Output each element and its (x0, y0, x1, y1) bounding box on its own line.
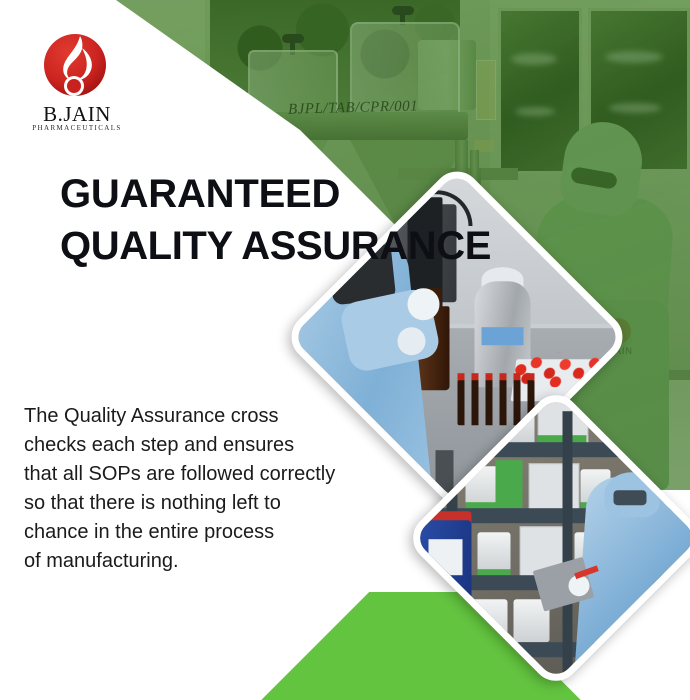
warehouse-container (465, 465, 498, 507)
bjain-flame-circle-icon (36, 32, 114, 104)
poster-canvas: BJPL/TAB/CPR/001 B.JAIN (0, 0, 690, 700)
warehouse-technician-visor-icon (614, 490, 647, 505)
warehouse-rack-upright (562, 411, 573, 678)
warehouse-container (477, 532, 510, 571)
lab-technician-glove (397, 326, 425, 354)
body-line-4: so that there is nothing left to (24, 489, 384, 518)
body-line-3: that all SOPs are followed correctly (24, 460, 384, 489)
brand-logo[interactable]: B.JAIN PHARMACEUTICALS (18, 32, 136, 137)
machine-brand-plate (206, 100, 260, 120)
brand-tagline: PHARMACEUTICALS (18, 124, 136, 132)
body-line-6: of manufacturing. (24, 547, 384, 576)
body-line-5: chance in the entire process (24, 518, 384, 547)
lab-technician-glove (408, 288, 440, 320)
body-line-1: The Quality Assurance cross (24, 402, 384, 431)
headline-line-2: QUALITY ASSURANCE (60, 220, 660, 272)
warehouse-drum-label (429, 538, 462, 574)
warehouse-green-carton (495, 459, 522, 507)
body-line-2: checks each step and ensures (24, 431, 384, 460)
body-copy: The Quality Assurance cross checks each … (24, 402, 384, 576)
page-title: GUARANTEED QUALITY ASSURANCE (60, 168, 660, 272)
headline-line-1: GUARANTEED (60, 168, 660, 220)
brand-name: B.JAIN (18, 104, 136, 125)
lab-canister-label (482, 326, 524, 344)
